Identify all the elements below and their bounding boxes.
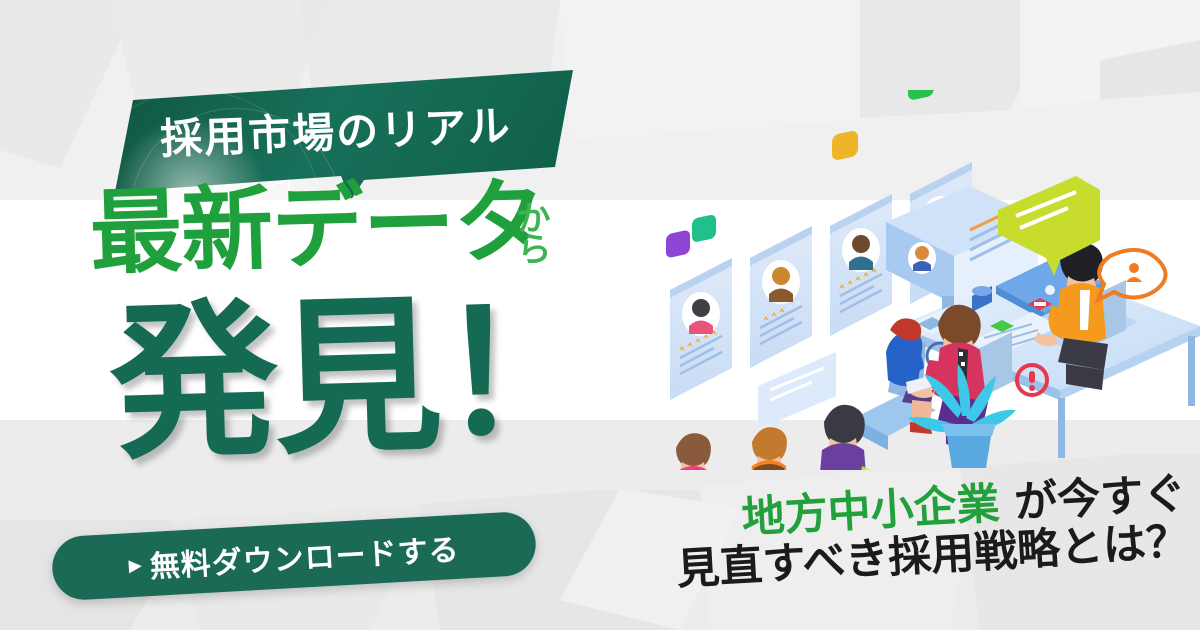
speech-bubble-chat bbox=[758, 352, 836, 432]
headline-saishin-data: 最新データ bbox=[89, 176, 546, 281]
candidate-card-1-badges bbox=[666, 214, 716, 259]
headline-line-2: 発見！ bbox=[90, 294, 650, 474]
cta-content: ▶ 無料ダウンロードする bbox=[127, 525, 460, 587]
candidate-card-3 bbox=[830, 194, 892, 336]
play-arrow-icon: ▶ bbox=[128, 556, 142, 574]
headline-block: 最新データ か ら 発見！ bbox=[90, 182, 650, 474]
headline-kara-suffix: か ら bbox=[513, 203, 555, 267]
recruitment-illustration bbox=[640, 90, 1200, 470]
candidate-card-3-badge bbox=[832, 130, 858, 162]
headline-hakken: 発見！ bbox=[108, 287, 604, 469]
candidate-card-1 bbox=[670, 258, 732, 400]
candidate-card-4-badges bbox=[908, 90, 962, 101]
queued-applicant-pink bbox=[672, 433, 726, 470]
banner-canvas: 採用市場のリアル 最新データ か ら 発見！ ▶ 無料ダウンロードする 地方中小… bbox=[0, 0, 1200, 630]
candidate-card-2 bbox=[750, 226, 812, 368]
cta-label: 無料ダウンロードする bbox=[149, 525, 461, 586]
kara-char-2: ら bbox=[514, 235, 555, 267]
queued-applicant-brown-vest bbox=[748, 427, 808, 470]
